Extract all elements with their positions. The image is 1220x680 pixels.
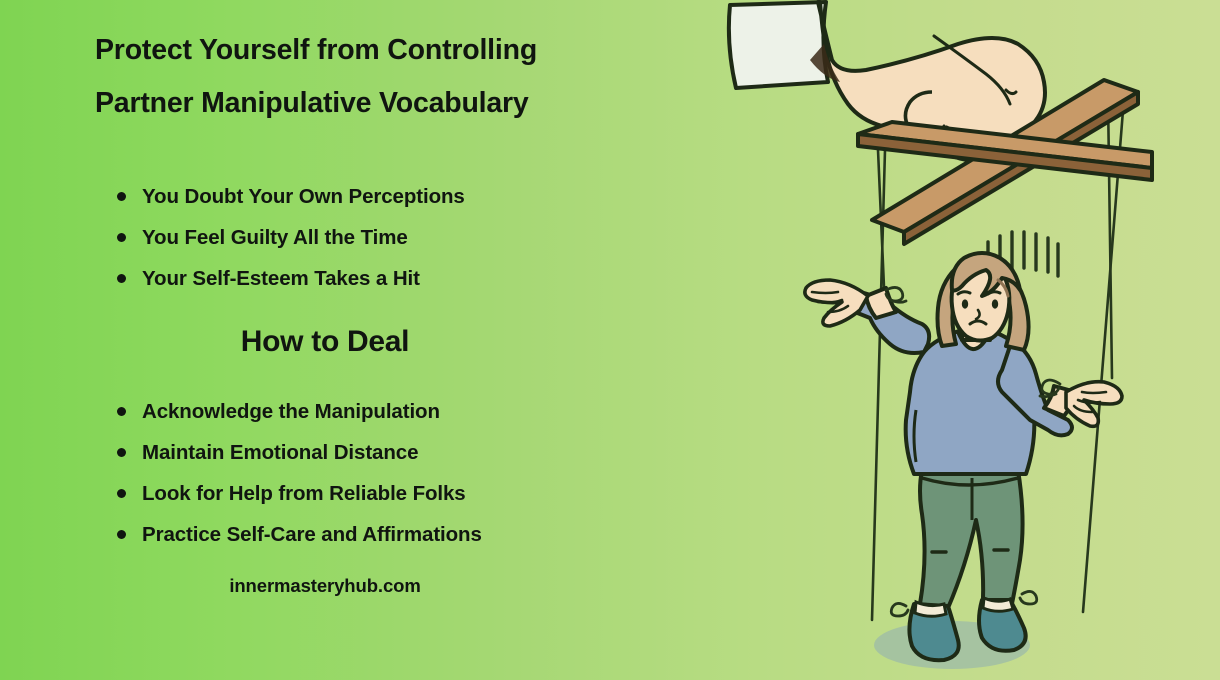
page-title-line-1: Protect Yourself from Controlling [95, 24, 695, 77]
list-item: Acknowledge the Manipulation [110, 391, 482, 432]
bullet-point-icon [117, 530, 126, 539]
marionette-illustration [700, 0, 1220, 680]
signs-list: You Doubt Your Own Perceptions You Feel … [110, 176, 465, 299]
bullet-point-icon [117, 192, 126, 201]
list-item: You Doubt Your Own Perceptions [110, 176, 465, 217]
footer-website-label: innermasteryhub.com [95, 575, 555, 597]
bullet-point-icon [117, 274, 126, 283]
section-heading: How to Deal [95, 325, 555, 359]
bullet-point-icon [117, 233, 126, 242]
list-item-label: You Feel Guilty All the Time [142, 226, 408, 249]
infographic-poster: Protect Yourself from Controlling Partne… [0, 0, 1220, 680]
bullet-point-icon [117, 407, 126, 416]
remedies-list: Acknowledge the Manipulation Maintain Em… [110, 391, 482, 555]
eye-left [962, 299, 968, 308]
list-item: Look for Help from Reliable Folks [110, 473, 482, 514]
shirt-cuff [729, 2, 828, 88]
bullet-point-icon [117, 489, 126, 498]
page-title: Protect Yourself from Controlling Partne… [95, 24, 695, 130]
list-item: Maintain Emotional Distance [110, 432, 482, 473]
puppet-woman [805, 253, 1122, 660]
list-item-label: Practice Self-Care and Affirmations [142, 523, 482, 546]
list-item-label: Acknowledge the Manipulation [142, 400, 440, 423]
puppet-forearm-left [866, 288, 896, 318]
list-item: Your Self-Esteem Takes a Hit [110, 258, 465, 299]
bullet-point-icon [117, 448, 126, 457]
puppet-hand-right [1066, 382, 1122, 427]
list-item-label: Your Self-Esteem Takes a Hit [142, 267, 420, 290]
list-item-label: Look for Help from Reliable Folks [142, 482, 466, 505]
text-column: Protect Yourself from Controlling Partne… [0, 0, 720, 680]
list-item-label: Maintain Emotional Distance [142, 441, 418, 464]
string-right-arm [1108, 98, 1112, 378]
list-item-label: You Doubt Your Own Perceptions [142, 185, 465, 208]
eye-right [992, 299, 998, 308]
page-title-line-2: Partner Manipulative Vocabulary [95, 77, 695, 130]
list-item: Practice Self-Care and Affirmations [110, 514, 482, 555]
list-item: You Feel Guilty All the Time [110, 217, 465, 258]
